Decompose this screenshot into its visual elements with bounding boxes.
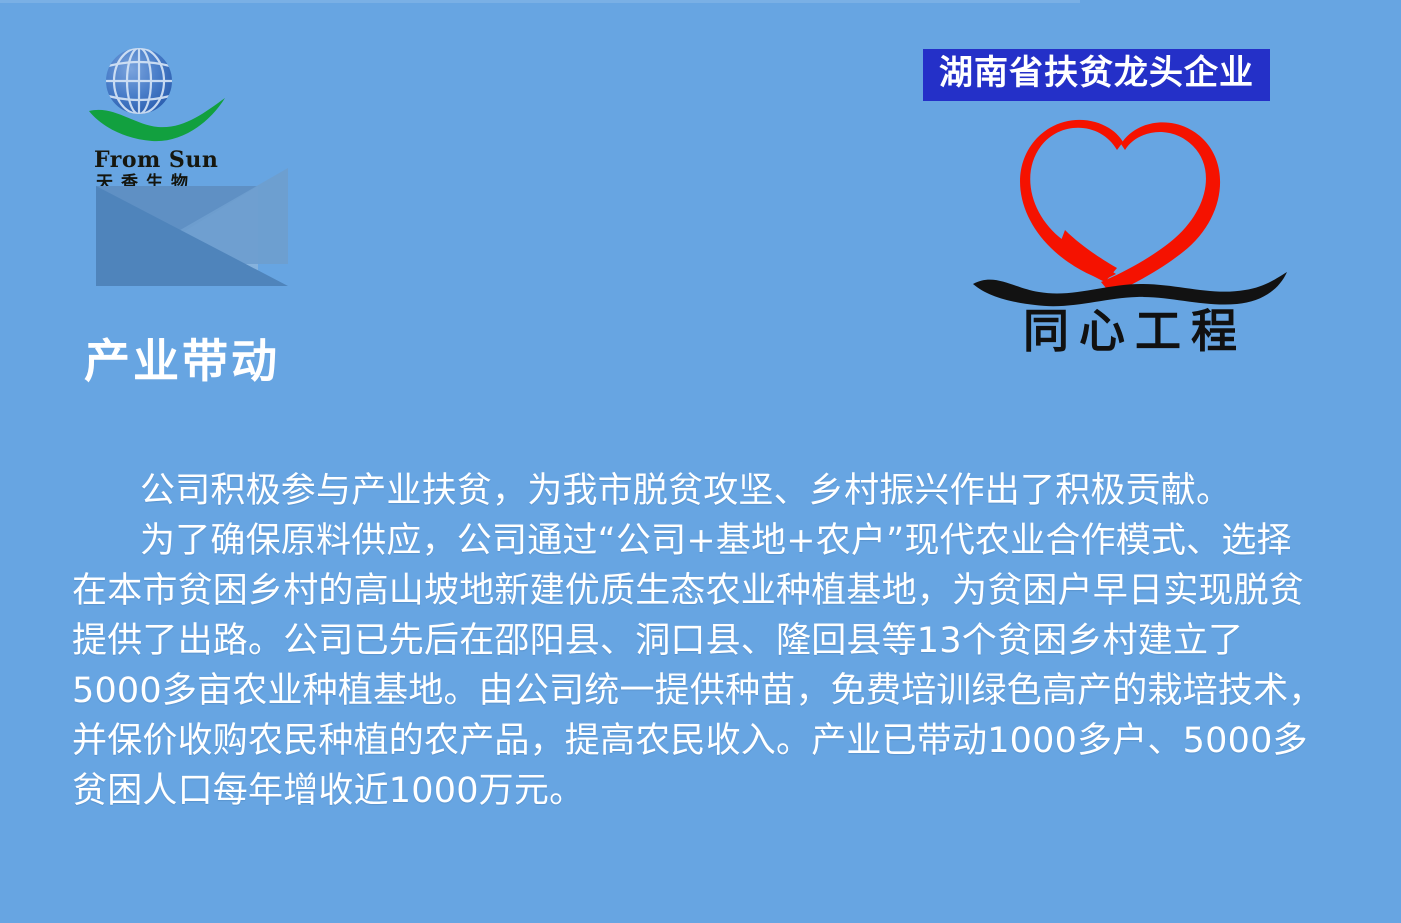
top-hairline-divider [0,0,1080,3]
brush-heart-icon: 同心工程 [965,112,1295,404]
status-badge: 湖南省扶贫龙头企业 [923,49,1270,101]
body-line-4: 提供了出路。公司已先后在邵阳县、洞口县、隆回县等13个贫困乡村建立了 [72,616,1362,666]
body-line-3: 在本市贫困乡村的高山坡地新建优质生态农业种植基地，为贫困户早日实现脱贫 [72,566,1362,616]
body-line-2: 为了确保原料供应，公司通过“公司+基地+农户”现代农业合作模式、选择 [72,516,1362,566]
body-paragraph: 公司积极参与产业扶贫，为我市脱贫攻坚、乡村振兴作出了积极贡献。 为了确保原料供应… [72,466,1362,816]
body-line-7: 贫困人口每年增收近1000万元。 [72,766,1362,816]
slide-canvas: From Sun 天香生物 产业带动 湖南省扶贫龙头企业 同心工程 公司积极参与… [0,0,1401,923]
body-line-6: 并保价收购农民种植的农产品，提高农民收入。产业已带动1000多户、5000多 [72,716,1362,766]
leaf-swoosh-icon [88,93,228,145]
body-line-5: 5000多亩农业种植基地。由公司统一提供种苗，免费培训绿色高产的栽培技术， [72,666,1362,716]
page-title: 产业带动 [84,336,280,387]
heart-logo-caption: 同心工程 [965,308,1295,354]
body-line-1: 公司积极参与产业扶贫，为我市脱贫攻坚、乡村振兴作出了积极贡献。 [72,466,1362,516]
geometric-triangles-mark [96,168,288,304]
